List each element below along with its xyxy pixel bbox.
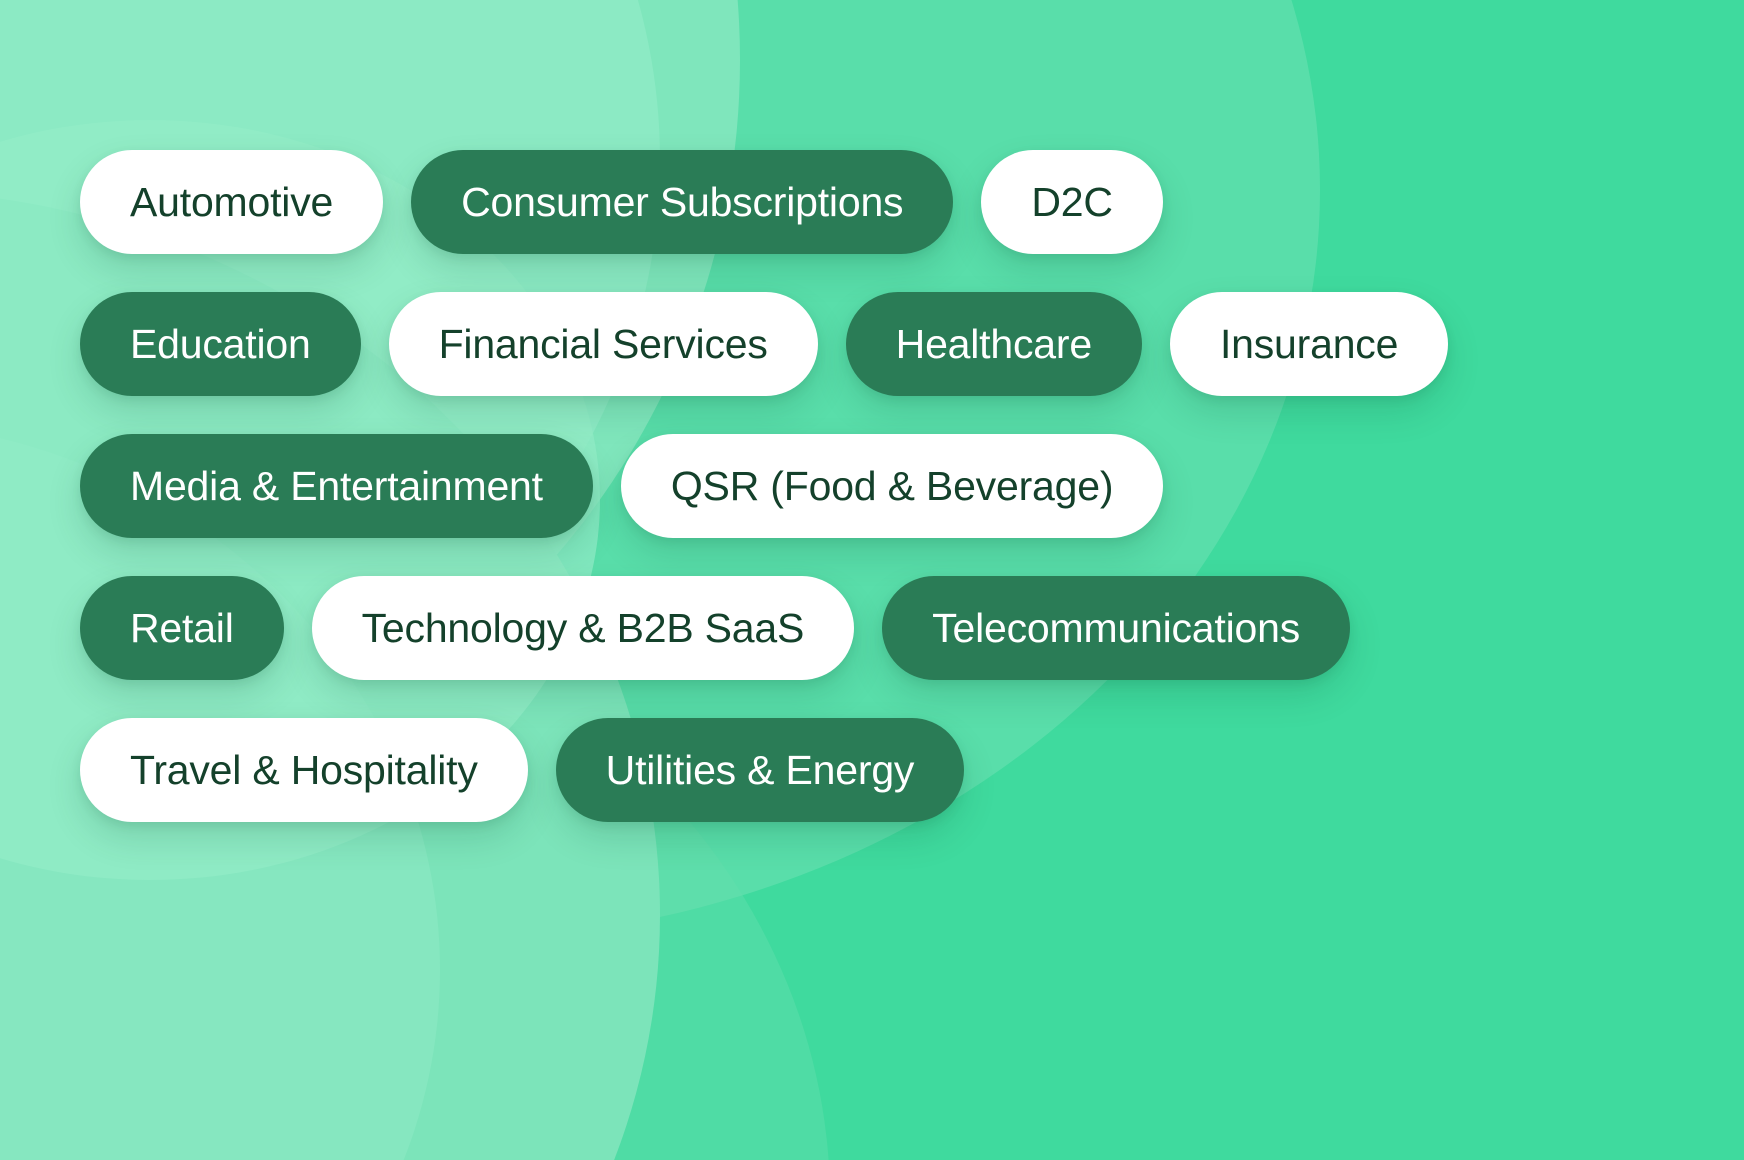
tag-label: Travel & Hospitality <box>130 750 478 791</box>
tag-row: Retail Technology & B2B SaaS Telecommuni… <box>80 576 1744 680</box>
tag-travel-hospitality[interactable]: Travel & Hospitality <box>80 718 528 822</box>
tag-label: Healthcare <box>896 324 1092 365</box>
tag-label: Education <box>130 324 311 365</box>
tag-financial-services[interactable]: Financial Services <box>389 292 818 396</box>
tag-row: Travel & Hospitality Utilities & Energy <box>80 718 1744 822</box>
tag-row: Media & Entertainment QSR (Food & Bevera… <box>80 434 1744 538</box>
tag-label: QSR (Food & Beverage) <box>671 466 1113 507</box>
tag-healthcare[interactable]: Healthcare <box>846 292 1142 396</box>
tag-label: Media & Entertainment <box>130 466 543 507</box>
tag-qsr-food-beverage[interactable]: QSR (Food & Beverage) <box>621 434 1163 538</box>
tag-utilities-energy[interactable]: Utilities & Energy <box>556 718 965 822</box>
tag-d2c[interactable]: D2C <box>981 150 1162 254</box>
tag-insurance[interactable]: Insurance <box>1170 292 1448 396</box>
industry-tag-cloud: Automotive Consumer Subscriptions D2C Ed… <box>0 0 1744 1160</box>
tag-label: Technology & B2B SaaS <box>362 608 805 649</box>
tag-label: Telecommunications <box>932 608 1300 649</box>
tag-label: D2C <box>1031 182 1112 223</box>
tag-technology-b2b-saas[interactable]: Technology & B2B SaaS <box>312 576 855 680</box>
tag-rows: Automotive Consumer Subscriptions D2C Ed… <box>0 0 1744 860</box>
tag-label: Consumer Subscriptions <box>461 182 903 223</box>
tag-row: Automotive Consumer Subscriptions D2C <box>80 150 1744 254</box>
tag-label: Retail <box>130 608 234 649</box>
tag-education[interactable]: Education <box>80 292 361 396</box>
tag-consumer-subscriptions[interactable]: Consumer Subscriptions <box>411 150 953 254</box>
tag-label: Financial Services <box>439 324 768 365</box>
tag-telecommunications[interactable]: Telecommunications <box>882 576 1350 680</box>
tag-label: Insurance <box>1220 324 1398 365</box>
tag-label: Automotive <box>130 182 333 223</box>
tag-automotive[interactable]: Automotive <box>80 150 383 254</box>
tag-media-entertainment[interactable]: Media & Entertainment <box>80 434 593 538</box>
tag-retail[interactable]: Retail <box>80 576 284 680</box>
tag-row: Education Financial Services Healthcare … <box>80 292 1744 396</box>
tag-label: Utilities & Energy <box>606 750 915 791</box>
